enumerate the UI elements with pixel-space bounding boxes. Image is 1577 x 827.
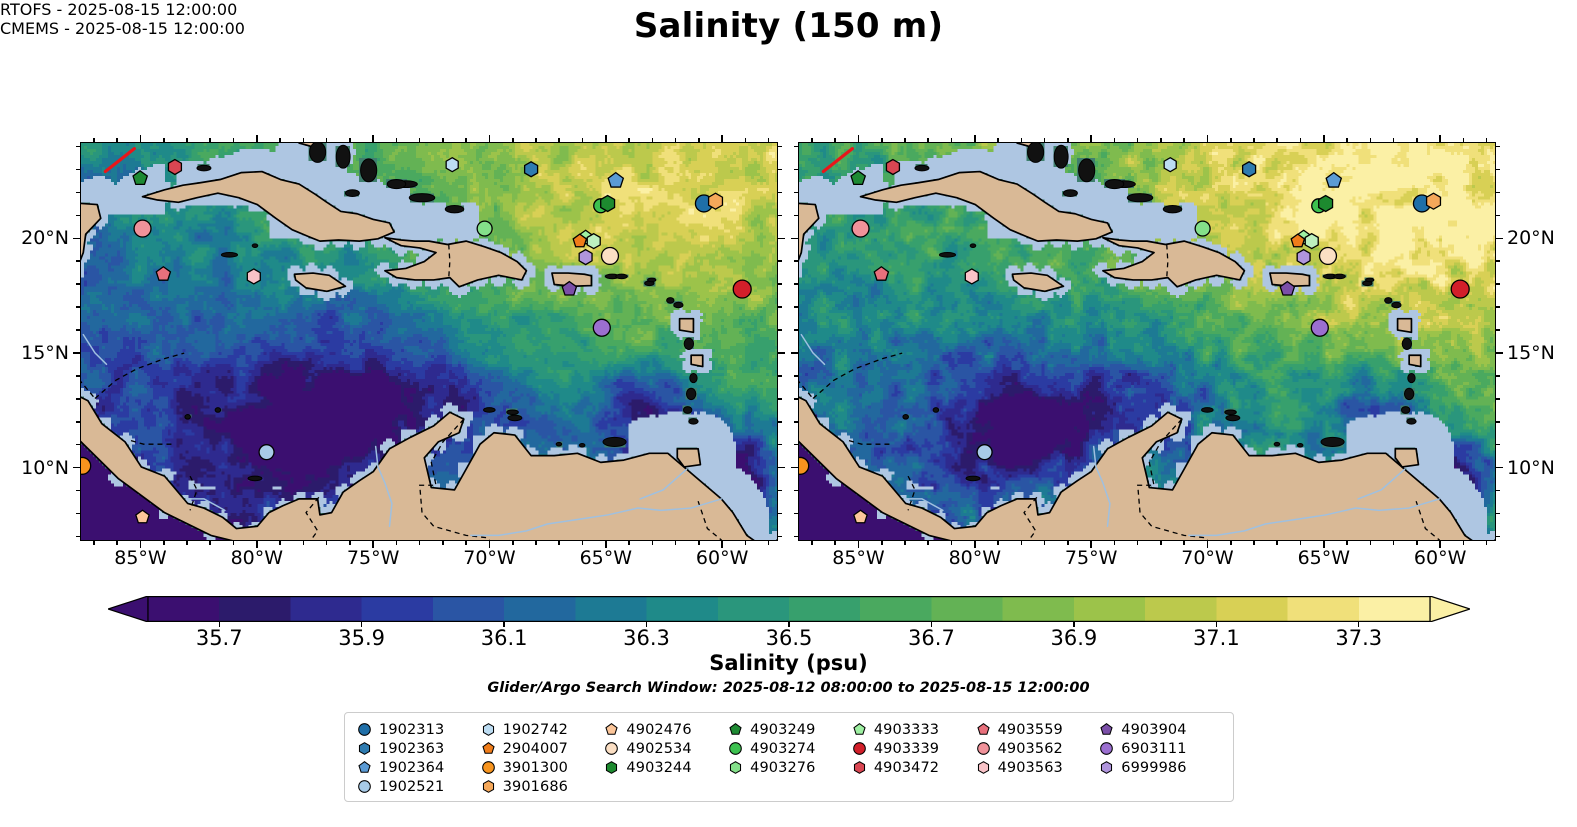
x-tick-top	[652, 138, 654, 142]
x-tick	[1486, 541, 1488, 545]
float-marker[interactable]	[168, 160, 181, 175]
y-tick-left	[794, 329, 798, 331]
x-tick-top	[209, 138, 211, 142]
x-tick	[811, 541, 813, 545]
x-tick	[1230, 541, 1232, 545]
x-tick-top	[326, 138, 328, 142]
x-tick	[768, 541, 770, 545]
legend-item[interactable]: 4903276	[728, 758, 852, 777]
x-tick-top	[349, 138, 351, 142]
float-marker[interactable]	[852, 220, 869, 237]
y-tick-left	[73, 352, 80, 354]
legend-item-label: 6999986	[1121, 760, 1186, 776]
x-tick-top	[951, 138, 953, 142]
colorbar-label: Salinity (psu)	[0, 651, 1577, 675]
x-tick-label: 60°W	[696, 547, 748, 569]
legend-item[interactable]: 4903244	[604, 758, 728, 777]
x-tick	[951, 541, 953, 545]
x-tick-top	[1276, 138, 1278, 142]
colorbar-tick-label: 36.7	[908, 626, 955, 650]
float-marker[interactable]	[247, 269, 260, 284]
y-tick-right	[778, 421, 782, 423]
x-tick-top	[904, 138, 906, 142]
legend-item-label: 1902521	[379, 779, 444, 795]
float-marker[interactable]	[587, 234, 600, 249]
x-tick	[1067, 541, 1069, 545]
x-tick-label: 75°W	[347, 547, 399, 569]
x-tick-top	[303, 138, 305, 142]
x-tick-top	[605, 135, 607, 142]
legend-marker-icon	[357, 741, 372, 756]
x-tick-top	[279, 138, 281, 142]
legend-item[interactable]: 4903472	[852, 758, 976, 777]
x-tick	[1114, 541, 1116, 545]
y-tick-left	[794, 283, 798, 285]
y-tick-right	[778, 536, 782, 538]
y-tick-right	[1496, 513, 1500, 515]
legend: 1902313190236319023641902521190274229040…	[344, 712, 1234, 802]
legend-marker-icon	[357, 722, 372, 737]
x-tick-top	[582, 138, 584, 142]
x-tick-top	[1137, 138, 1139, 142]
y-tick-left	[73, 467, 80, 469]
x-tick	[1416, 541, 1418, 545]
legend-marker-icon	[357, 779, 372, 794]
x-tick-top	[1486, 138, 1488, 142]
legend-marker-icon	[604, 722, 619, 737]
y-tick-label: 15°N	[0, 342, 69, 364]
x-tick-top	[1183, 138, 1185, 142]
y-tick-left	[794, 306, 798, 308]
x-tick	[1137, 541, 1139, 545]
float-marker[interactable]	[1319, 196, 1333, 212]
y-tick-right	[1496, 306, 1500, 308]
y-tick-left	[794, 444, 798, 446]
legend-item-label: 4903904	[1121, 722, 1186, 738]
y-tick-left	[794, 536, 798, 538]
float-marker[interactable]	[1243, 162, 1256, 177]
y-tick-right	[1496, 352, 1503, 354]
y-tick-left	[794, 421, 798, 423]
legend-item-label: 6903111	[1121, 741, 1186, 757]
legend-item[interactable]: 4903563	[976, 758, 1100, 777]
x-tick-top	[512, 138, 514, 142]
y-tick-left	[76, 169, 80, 171]
legend-item-label: 4902476	[626, 722, 691, 738]
x-tick-top	[974, 135, 976, 142]
x-tick-top	[1300, 138, 1302, 142]
legend-item-label: 1902742	[503, 722, 568, 738]
y-tick-right	[1496, 238, 1503, 240]
x-tick	[1160, 541, 1162, 545]
x-tick-top	[1160, 138, 1162, 142]
legend-marker-icon	[852, 741, 867, 756]
x-tick-top	[675, 138, 677, 142]
colorbar-tick-label: 36.1	[481, 626, 528, 650]
legend-item-label: 1902363	[379, 741, 444, 757]
legend-marker-icon	[728, 760, 743, 775]
y-tick-right	[778, 490, 782, 492]
x-tick	[1253, 541, 1255, 545]
x-tick-label: 70°W	[1181, 547, 1233, 569]
colorbar-tick-label: 35.9	[338, 626, 385, 650]
legend-item[interactable]: 4903559	[976, 720, 1100, 739]
x-tick-top	[1067, 138, 1069, 142]
y-tick-left	[794, 146, 798, 148]
legend-marker-icon	[1099, 760, 1114, 775]
legend-item-label: 4903333	[874, 722, 939, 738]
float-marker[interactable]	[1311, 319, 1328, 336]
legend-grid: 1902313190236319023641902521190274229040…	[357, 720, 1223, 796]
legend-item[interactable]: 4902476	[604, 720, 728, 739]
x-tick	[93, 541, 95, 545]
y-tick-right	[778, 329, 782, 331]
legend-item[interactable]: 6903111	[1099, 739, 1223, 758]
x-tick	[209, 541, 211, 545]
salinity-map-rtofs	[81, 143, 777, 540]
x-tick	[628, 541, 630, 545]
y-tick-label: 10°N	[1507, 457, 1555, 479]
float-marker[interactable]	[1164, 158, 1176, 172]
x-tick	[1021, 541, 1023, 545]
legend-item[interactable]: 3901300	[481, 758, 605, 777]
x-tick	[1183, 541, 1185, 545]
x-tick-top	[997, 138, 999, 142]
x-tick-label: 75°W	[1065, 547, 1117, 569]
x-tick-top	[1370, 138, 1372, 142]
x-tick	[675, 541, 677, 545]
y-tick-right	[778, 238, 785, 240]
x-tick	[163, 541, 165, 545]
legend-marker-icon	[976, 741, 991, 756]
x-tick-top	[1439, 135, 1441, 142]
legend-item-label: 3901300	[503, 760, 568, 776]
x-tick	[745, 541, 747, 545]
legend-item-label: 4902534	[626, 741, 691, 757]
x-tick-label: 65°W	[1298, 547, 1350, 569]
float-marker[interactable]	[593, 319, 610, 336]
y-tick-left	[76, 536, 80, 538]
legend-item-label: 1902364	[379, 760, 444, 776]
float-marker[interactable]	[259, 445, 274, 460]
y-tick-right	[1496, 375, 1500, 377]
y-tick-left	[794, 260, 798, 262]
y-tick-left	[794, 192, 798, 194]
x-tick	[904, 541, 906, 545]
y-tick-left	[76, 375, 80, 377]
x-tick-top	[442, 138, 444, 142]
x-tick	[419, 541, 421, 545]
legend-item[interactable]: 4903249	[728, 720, 852, 739]
legend-item[interactable]: 1902742	[481, 720, 605, 739]
y-tick-right	[1496, 260, 1500, 262]
map-panel-cmems[interactable]	[798, 142, 1496, 541]
x-tick-top	[419, 138, 421, 142]
y-tick-right	[778, 192, 782, 194]
legend-item-label: 3901686	[503, 779, 568, 795]
x-tick-top	[628, 138, 630, 142]
x-tick	[652, 541, 654, 545]
x-tick-top	[1393, 138, 1395, 142]
x-tick-top	[834, 138, 836, 142]
y-tick-label: 20°N	[1507, 227, 1555, 249]
y-tick-right	[778, 146, 782, 148]
legend-marker-icon	[604, 760, 619, 775]
colorbar	[108, 596, 1470, 622]
x-tick	[535, 541, 537, 545]
float-marker[interactable]	[446, 158, 458, 172]
x-tick	[1370, 541, 1372, 545]
map-panel-rtofs[interactable]	[80, 142, 778, 541]
x-tick-top	[163, 138, 165, 142]
y-tick-right	[1496, 283, 1500, 285]
x-tick	[116, 541, 118, 545]
float-marker[interactable]	[886, 160, 899, 175]
y-tick-right	[1496, 169, 1500, 171]
y-tick-left	[76, 513, 80, 515]
y-tick-right	[1496, 444, 1500, 446]
y-tick-left	[791, 467, 798, 469]
legend-item[interactable]: 6999986	[1099, 758, 1223, 777]
colorbar-tick-label: 37.3	[1335, 626, 1382, 650]
x-tick-top	[558, 138, 560, 142]
x-tick-top	[465, 138, 467, 142]
x-tick	[558, 541, 560, 545]
y-tick-left	[794, 169, 798, 171]
legend-marker-icon	[852, 760, 867, 775]
x-tick	[997, 541, 999, 545]
figure-root: Salinity (150 m) RTOFS - 2025-08-15 12:0…	[0, 0, 1577, 827]
float-marker[interactable]	[733, 280, 751, 298]
legend-marker-icon	[976, 760, 991, 775]
legend-item-label: 4903274	[750, 741, 815, 757]
colorbar-tick-label: 35.7	[196, 626, 243, 650]
legend-item-label: 4903563	[998, 760, 1063, 776]
search-window-caption: Glider/Argo Search Window: 2025-08-12 08…	[0, 680, 1577, 696]
float-marker[interactable]	[602, 247, 619, 264]
x-tick-top	[116, 138, 118, 142]
legend-item[interactable]: 1902521	[357, 777, 481, 796]
float-marker[interactable]	[1320, 247, 1337, 264]
y-tick-right	[778, 215, 782, 217]
salinity-map-cmems	[799, 143, 1495, 540]
x-tick	[512, 541, 514, 545]
x-tick	[1300, 541, 1302, 545]
y-tick-left	[76, 306, 80, 308]
x-tick-label: 70°W	[463, 547, 515, 569]
y-tick-left	[76, 444, 80, 446]
x-tick-top	[698, 138, 700, 142]
x-tick-top	[768, 138, 770, 142]
float-marker[interactable]	[1195, 221, 1210, 236]
x-tick-top	[233, 138, 235, 142]
y-tick-left	[791, 238, 798, 240]
legend-item[interactable]: 3901686	[481, 777, 605, 796]
legend-item[interactable]: 2904007	[481, 739, 605, 758]
x-tick	[326, 541, 328, 545]
legend-marker-icon	[481, 779, 496, 794]
y-tick-left	[794, 375, 798, 377]
x-tick-top	[186, 138, 188, 142]
float-marker[interactable]	[525, 162, 538, 177]
x-tick	[233, 541, 235, 545]
y-tick-left	[794, 398, 798, 400]
y-tick-right	[1496, 215, 1500, 217]
x-tick-top	[1207, 135, 1209, 142]
x-tick-top	[1044, 138, 1046, 142]
y-tick-right	[778, 444, 782, 446]
x-tick-top	[256, 135, 258, 142]
colorbar-tick-label: 36.9	[1050, 626, 1097, 650]
legend-item-label: 4903472	[874, 760, 939, 776]
y-tick-left	[76, 398, 80, 400]
float-marker[interactable]	[134, 220, 151, 237]
x-tick-top	[1230, 138, 1232, 142]
legend-marker-icon	[481, 741, 496, 756]
legend-item[interactable]: 4903904	[1099, 720, 1223, 739]
y-tick-right	[778, 398, 782, 400]
y-tick-left	[76, 192, 80, 194]
legend-marker-icon	[604, 741, 619, 756]
y-tick-left	[76, 260, 80, 262]
y-tick-right	[1496, 192, 1500, 194]
x-tick-top	[1253, 138, 1255, 142]
legend-item-label: 4903562	[998, 741, 1063, 757]
y-tick-right	[1496, 536, 1500, 538]
x-tick-top	[93, 138, 95, 142]
legend-item-label: 4903276	[750, 760, 815, 776]
x-tick-top	[811, 138, 813, 142]
x-tick	[303, 541, 305, 545]
float-marker[interactable]	[477, 221, 492, 236]
y-tick-right	[1496, 146, 1500, 148]
x-tick-label: 80°W	[231, 547, 283, 569]
legend-item-label: 1902313	[379, 722, 444, 738]
x-tick-top	[858, 135, 860, 142]
float-marker[interactable]	[601, 196, 615, 212]
x-tick-label: 85°W	[832, 547, 884, 569]
legend-item[interactable]: 1902363	[357, 739, 481, 758]
colorbar-tick-label: 37.1	[1193, 626, 1240, 650]
y-tick-right	[778, 375, 782, 377]
legend-item-label: 4903339	[874, 741, 939, 757]
y-tick-right	[778, 467, 785, 469]
legend-item-label: 2904007	[503, 741, 568, 757]
page-title: Salinity (150 m)	[0, 6, 1577, 46]
y-tick-left	[76, 215, 80, 217]
x-tick-top	[1416, 138, 1418, 142]
y-tick-right	[1496, 398, 1500, 400]
x-tick	[349, 541, 351, 545]
x-tick-label: 80°W	[949, 547, 1001, 569]
float-marker[interactable]	[709, 193, 723, 209]
legend-item[interactable]: 4903333	[852, 720, 976, 739]
y-tick-left	[794, 490, 798, 492]
y-tick-label: 10°N	[0, 457, 69, 479]
x-tick-top	[1021, 138, 1023, 142]
y-tick-right	[778, 352, 785, 354]
x-tick-label: 85°W	[114, 547, 166, 569]
x-tick-top	[1346, 138, 1348, 142]
x-tick	[1463, 541, 1465, 545]
legend-marker-icon	[728, 722, 743, 737]
float-marker[interactable]	[1451, 280, 1469, 298]
y-tick-left	[794, 215, 798, 217]
y-tick-right	[778, 513, 782, 515]
legend-item-label: 4903244	[626, 760, 691, 776]
colorbar-tick-label: 36.5	[766, 626, 813, 650]
float-marker[interactable]	[965, 269, 978, 284]
float-marker[interactable]	[977, 445, 992, 460]
y-tick-left	[794, 513, 798, 515]
legend-marker-icon	[728, 741, 743, 756]
legend-marker-icon	[481, 760, 496, 775]
y-tick-left	[76, 146, 80, 148]
y-tick-label: 20°N	[0, 227, 69, 249]
y-tick-right	[1496, 467, 1503, 469]
x-tick-top	[927, 138, 929, 142]
float-marker[interactable]	[1427, 193, 1441, 209]
x-tick-top	[1090, 135, 1092, 142]
x-tick	[1346, 541, 1348, 545]
legend-marker-icon	[852, 722, 867, 737]
x-tick-top	[372, 135, 374, 142]
x-tick	[465, 541, 467, 545]
x-tick-top	[745, 138, 747, 142]
x-tick	[279, 541, 281, 545]
x-tick	[582, 541, 584, 545]
x-tick	[927, 541, 929, 545]
colorbar-tick-label: 36.3	[623, 626, 670, 650]
x-tick-top	[1114, 138, 1116, 142]
x-tick	[1393, 541, 1395, 545]
x-tick	[834, 541, 836, 545]
legend-marker-icon	[357, 760, 372, 775]
float-marker[interactable]	[1305, 234, 1318, 249]
float-marker[interactable]	[1297, 250, 1310, 265]
legend-marker-icon	[1099, 722, 1114, 737]
float-marker[interactable]	[579, 250, 592, 265]
y-tick-right	[778, 306, 782, 308]
legend-item[interactable]: 1902313	[357, 720, 481, 739]
x-tick-top	[1323, 135, 1325, 142]
legend-item[interactable]: 4903274	[728, 739, 852, 758]
x-tick	[698, 541, 700, 545]
x-tick-top	[535, 138, 537, 142]
legend-item[interactable]: 4902534	[604, 739, 728, 758]
x-tick	[881, 541, 883, 545]
x-tick	[186, 541, 188, 545]
legend-marker-icon	[1099, 741, 1114, 756]
legend-item[interactable]: 4903339	[852, 739, 976, 758]
legend-item[interactable]: 4903562	[976, 739, 1100, 758]
y-tick-right	[1496, 490, 1500, 492]
x-tick-label: 60°W	[1414, 547, 1466, 569]
y-tick-label: 15°N	[1507, 342, 1555, 364]
x-tick-top	[721, 135, 723, 142]
y-tick-right	[1496, 329, 1500, 331]
x-tick	[1044, 541, 1046, 545]
x-tick	[442, 541, 444, 545]
legend-marker-icon	[976, 722, 991, 737]
y-tick-right	[778, 283, 782, 285]
y-tick-left	[76, 490, 80, 492]
legend-item-label: 4903559	[998, 722, 1063, 738]
x-tick-label: 65°W	[580, 547, 632, 569]
legend-item[interactable]: 1902364	[357, 758, 481, 777]
x-tick-top	[140, 135, 142, 142]
x-tick	[1276, 541, 1278, 545]
